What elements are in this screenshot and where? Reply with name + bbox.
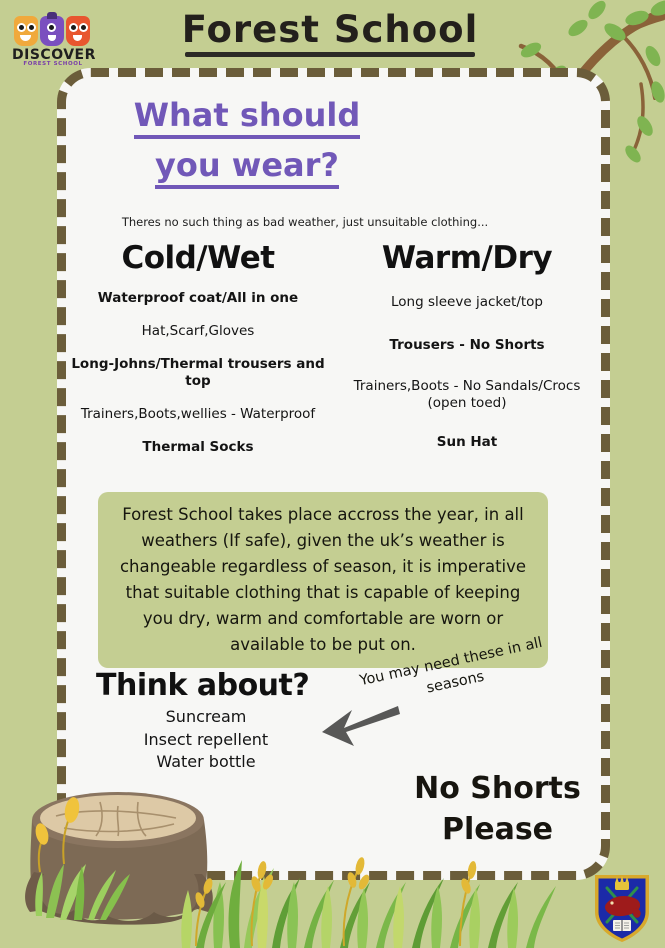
list-item: Trousers - No Shorts	[336, 337, 598, 354]
column-heading-cold-wet: Cold/Wet	[62, 240, 334, 276]
no-shorts-line-1: No Shorts	[414, 771, 581, 806]
column-warm-dry: Warm/Dry Long sleeve jacket/top Trousers…	[336, 240, 598, 467]
subheading-line-2: you wear?	[155, 146, 339, 189]
list-item: Water bottle	[96, 751, 316, 774]
logo-character-purple	[40, 16, 64, 46]
discover-forest-school-logo: DISCOVER FOREST SCHOOL	[12, 14, 94, 66]
page-title: Forest School	[150, 8, 510, 51]
list-item: Trainers,Boots,wellies - Waterproof	[62, 406, 334, 423]
tagline: Theres no such thing as bad weather, jus…	[75, 215, 535, 229]
list-item: Insect repellent	[96, 729, 316, 752]
list-item: Suncream	[96, 706, 316, 729]
clothing-list-warm-dry: Long sleeve jacket/top Trousers - No Sho…	[336, 294, 598, 451]
list-item: Thermal Socks	[62, 439, 334, 456]
column-cold-wet: Cold/Wet Waterproof coat/All in one Hat,…	[62, 240, 334, 472]
info-note-box: Forest School takes place accross the ye…	[98, 492, 548, 668]
arrow-icon	[318, 702, 400, 748]
logo-characters	[12, 14, 94, 48]
section-heading-what-to-wear: What should you wear?	[82, 90, 412, 190]
logo-character-orange	[14, 16, 38, 46]
clothing-list-cold-wet: Waterproof coat/All in one Hat,Scarf,Glo…	[62, 290, 334, 456]
think-about-heading: Think about?	[96, 668, 309, 703]
grass-decoration	[0, 826, 560, 948]
logo-character-red	[66, 16, 90, 46]
poster-stage: DISCOVER FOREST SCHOOL Forest School Wha…	[0, 0, 665, 948]
school-crest-badge	[592, 872, 652, 944]
list-item: Waterproof coat/All in one	[62, 290, 334, 307]
list-item: Long-Johns/Thermal trousers and top	[62, 356, 334, 390]
think-about-list: Suncream Insect repellent Water bottle	[96, 706, 316, 774]
logo-subtitle: FOREST SCHOOL	[12, 61, 94, 67]
list-item: Sun Hat	[336, 434, 598, 451]
column-heading-warm-dry: Warm/Dry	[336, 240, 598, 276]
title-underline	[185, 52, 475, 57]
list-item: Long sleeve jacket/top	[336, 294, 598, 311]
list-item: Hat,Scarf,Gloves	[62, 323, 334, 340]
subheading-line-1: What should	[134, 96, 361, 139]
list-item: Trainers,Boots - No Sandals/Crocs (open …	[336, 378, 598, 412]
